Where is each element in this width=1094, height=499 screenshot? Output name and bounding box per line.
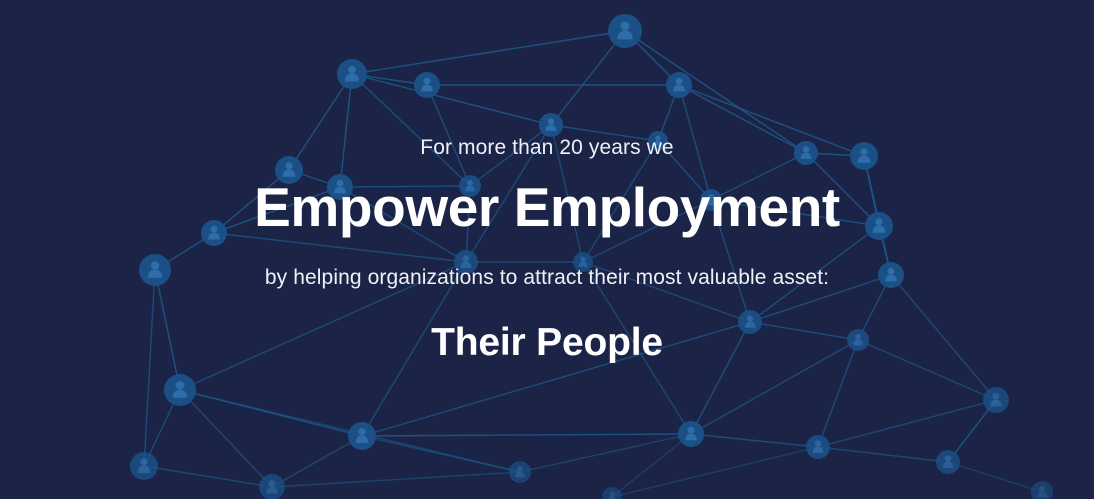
network-node: [454, 250, 478, 274]
network-link: [818, 340, 858, 447]
network-link: [352, 74, 470, 186]
network-link: [551, 31, 625, 125]
network-node: [847, 329, 869, 351]
network-node: [878, 262, 904, 288]
network-link: [583, 262, 691, 434]
network-link: [340, 187, 466, 262]
network-node: [130, 452, 158, 480]
network-node: [936, 450, 960, 474]
people-network-illustration: [0, 0, 1094, 499]
network-link: [583, 262, 750, 322]
network-node: [348, 422, 376, 450]
network-node: [738, 310, 762, 334]
network-node-layer: [130, 14, 1053, 499]
network-link: [818, 400, 996, 447]
network-node: [648, 131, 668, 151]
network-node: [414, 72, 440, 98]
network-node: [678, 421, 704, 447]
network-link-layer: [144, 31, 1042, 497]
network-link: [551, 125, 583, 262]
network-node: [337, 59, 367, 89]
network-link: [818, 447, 948, 462]
network-node: [459, 175, 481, 197]
network-node: [164, 374, 196, 406]
network-link: [750, 275, 891, 322]
network-link: [340, 186, 470, 187]
network-node: [1031, 481, 1053, 499]
network-link: [679, 85, 864, 156]
network-node: [509, 461, 531, 483]
network-link: [289, 74, 352, 170]
network-node: [666, 72, 692, 98]
network-link: [352, 74, 551, 125]
network-link: [711, 153, 806, 200]
network-link: [711, 200, 879, 226]
network-node: [983, 387, 1009, 413]
network-node: [608, 14, 642, 48]
network-link: [272, 436, 362, 487]
network-link: [891, 275, 996, 400]
network-link: [711, 200, 750, 322]
network-link: [427, 85, 470, 186]
network-link: [352, 31, 625, 74]
network-link: [272, 472, 520, 487]
network-node: [806, 435, 830, 459]
network-link: [470, 125, 551, 186]
network-link: [691, 434, 818, 447]
network-link: [180, 262, 466, 390]
network-node: [794, 141, 818, 165]
network-link: [948, 462, 1042, 492]
network-link: [750, 226, 879, 322]
network-node: [850, 142, 878, 170]
network-node: [573, 252, 593, 272]
network-node: [327, 174, 353, 200]
network-link: [362, 434, 691, 436]
network-node: [539, 113, 563, 137]
network-link: [362, 436, 520, 472]
network-node: [139, 254, 171, 286]
network-link: [180, 390, 272, 487]
network-node: [259, 474, 285, 499]
network-link: [750, 322, 858, 340]
network-node: [602, 487, 622, 499]
network-link: [144, 270, 155, 466]
network-link: [155, 270, 180, 390]
network-link: [340, 74, 352, 187]
network-node: [201, 220, 227, 246]
network-link: [214, 170, 289, 233]
network-node: [865, 212, 893, 240]
network-link: [144, 466, 272, 487]
network-link: [520, 434, 691, 472]
network-node: [275, 156, 303, 184]
network-link: [214, 233, 466, 262]
network-node: [700, 189, 722, 211]
network-link: [679, 85, 806, 153]
network-link: [858, 340, 996, 400]
network-link: [466, 125, 551, 262]
hero-banner: For more than 20 years we Empower Employ…: [0, 0, 1094, 499]
network-link: [551, 125, 658, 141]
network-link: [214, 187, 340, 233]
